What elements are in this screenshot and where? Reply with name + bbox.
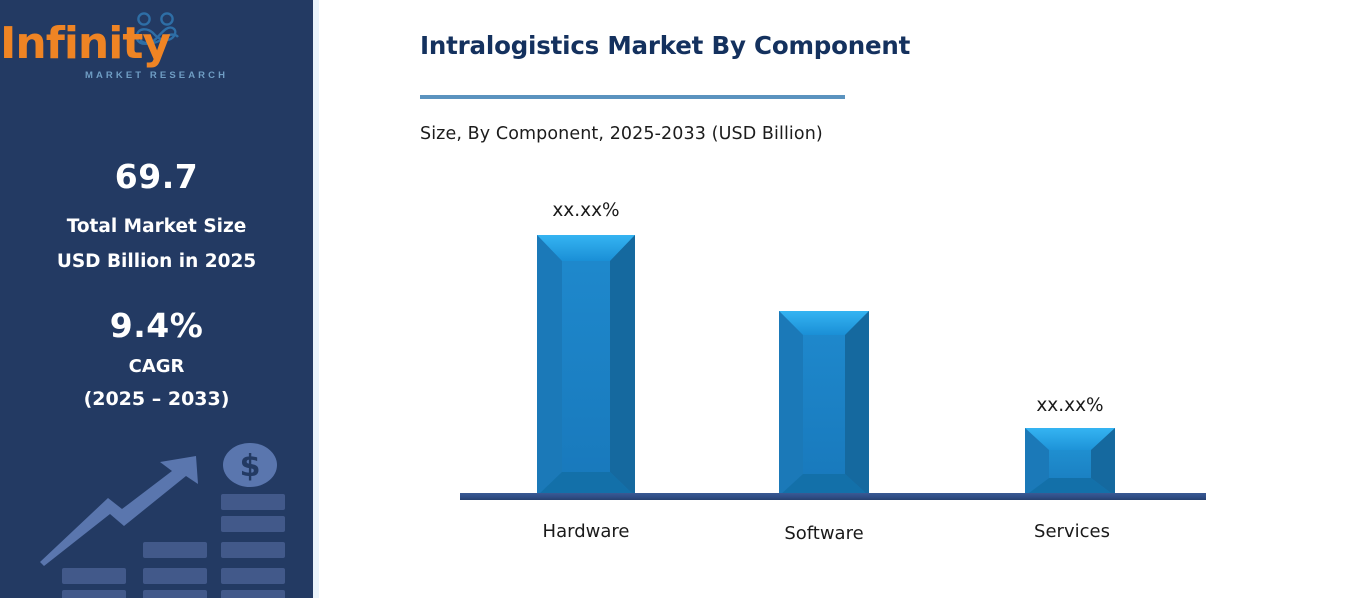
x-axis-line (460, 493, 1206, 500)
bar-hardware[interactable] (537, 235, 635, 496)
data-label-hardware: xx.xx% (509, 200, 663, 221)
brand-tagline: MARKET RESEARCH (0, 70, 313, 81)
chart-panel: Intralogistics Market By Component Size,… (319, 0, 1358, 598)
brand-wordmark: Infinity (0, 20, 150, 68)
category-label-services: Services (995, 521, 1149, 542)
bar-software[interactable] (779, 311, 869, 496)
sidebar: Infinity MARKET RESEARCH 69.7 Total Mark… (0, 0, 313, 598)
total-market-size-label-line1: Total Market Size (0, 216, 313, 237)
cagr-value: 9.4% (0, 306, 313, 345)
cagr-label: CAGR (0, 356, 313, 377)
growth-arrow-chart-icon: $ (38, 438, 288, 598)
total-market-size-value: 69.7 (0, 157, 313, 196)
dollar-coin-icon: $ (223, 443, 277, 487)
data-label-services: xx.xx% (993, 395, 1147, 416)
bar-chart-plot-area: xx.xx% Hardware (319, 0, 1358, 598)
category-label-software: Software (745, 523, 903, 544)
bar-services[interactable] (1025, 428, 1115, 496)
brand-logo: Infinity MARKET RESEARCH (0, 8, 313, 94)
category-label-hardware: Hardware (509, 521, 663, 542)
cagr-period: (2025 – 2033) (0, 388, 313, 410)
infographic-page: Infinity MARKET RESEARCH 69.7 Total Mark… (0, 0, 1358, 598)
total-market-size-label-line2: USD Billion in 2025 (0, 251, 313, 272)
svg-text:$: $ (240, 449, 261, 484)
